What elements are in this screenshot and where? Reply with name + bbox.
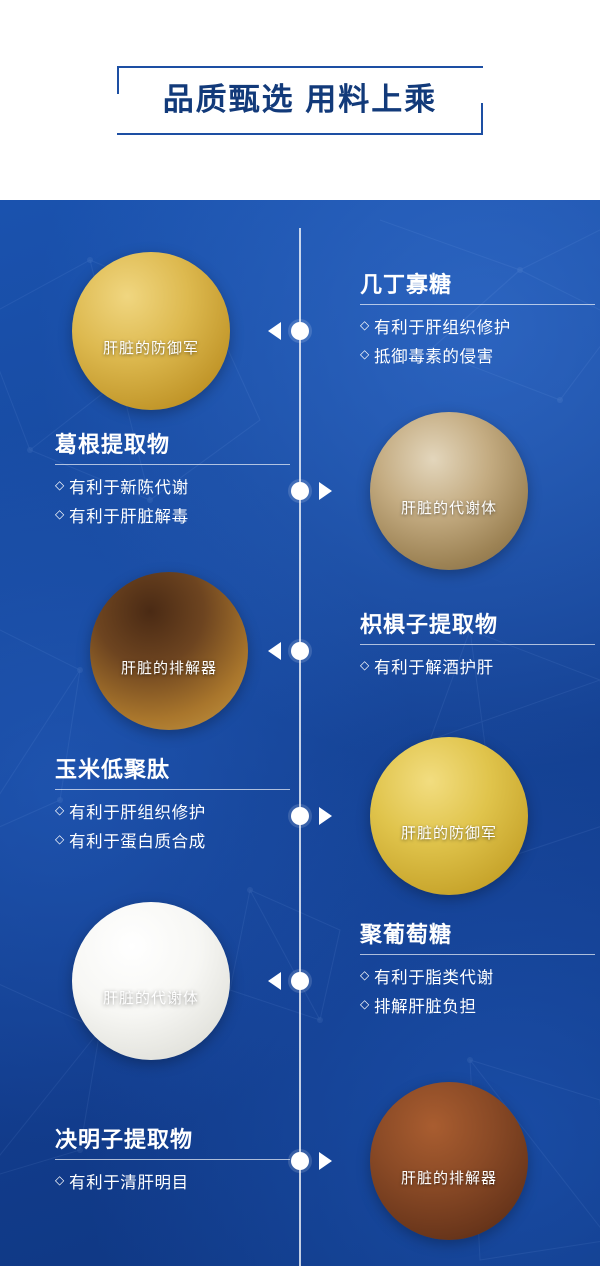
diamond-bullet-icon: ◇ [55, 828, 69, 851]
ingredient-image: 肝脏的代谢体 [72, 902, 230, 1060]
benefit-text: 排解肝脏负担 [374, 993, 477, 1022]
ingredient-image: 肝脏的防御军 [72, 252, 230, 410]
diamond-bullet-icon: ◇ [55, 1169, 69, 1192]
ingredient-text: 决明子提取物 ◇有利于清肝明目 [55, 1128, 290, 1198]
ingredient-image-caption: 肝脏的防御军 [72, 337, 230, 358]
title-divider [360, 304, 595, 305]
diamond-bullet-icon: ◇ [360, 343, 374, 366]
ingredient-image: 肝脏的排解器 [370, 1082, 528, 1240]
timeline-axis [299, 228, 301, 1266]
benefit-text: 有利于脂类代谢 [374, 964, 494, 993]
ingredient-benefit: ◇抵御毒素的侵害 [360, 343, 595, 372]
ingredient-text: 玉米低聚肽 ◇有利于肝组织修护 ◇有利于蛋白质合成 [55, 758, 290, 857]
timeline-arrow-left-icon [268, 642, 281, 660]
benefit-text: 有利于新陈代谢 [69, 474, 189, 503]
ingredient-text: 聚葡萄糖 ◇有利于脂类代谢 ◇排解肝脏负担 [360, 923, 595, 1022]
ingredient-benefit: ◇有利于解酒护肝 [360, 654, 595, 683]
timeline-node [291, 482, 309, 500]
timeline-node [291, 972, 309, 990]
ingredient-image: 肝脏的代谢体 [370, 412, 528, 570]
benefit-text: 有利于解酒护肝 [374, 654, 494, 683]
ingredient-text: 几丁寡糖 ◇有利于肝组织修护 ◇抵御毒素的侵害 [360, 273, 595, 372]
ingredient-benefit: ◇有利于清肝明目 [55, 1169, 290, 1198]
diamond-bullet-icon: ◇ [360, 993, 374, 1016]
timeline-arrow-right-icon [319, 482, 332, 500]
ingredient-image-caption: 肝脏的排解器 [370, 1167, 528, 1188]
timeline-node [291, 1152, 309, 1170]
ingredients-panel: 肝脏的防御军 几丁寡糖 ◇有利于肝组织修护 ◇抵御毒素的侵害 肝脏的代谢体 葛根… [0, 200, 600, 1266]
title-divider [55, 789, 290, 790]
page-header: 品质甄选 用料上乘 [0, 0, 600, 200]
title-divider [360, 644, 595, 645]
ingredient-title: 枳椇子提取物 [360, 613, 595, 644]
benefit-text: 有利于蛋白质合成 [69, 828, 206, 857]
ingredient-image-caption: 肝脏的防御军 [370, 822, 528, 843]
page-title: 品质甄选 用料上乘 [163, 84, 438, 115]
benefit-text: 有利于肝组织修护 [69, 799, 206, 828]
ingredient-image-caption: 肝脏的排解器 [90, 657, 248, 678]
ingredient-benefit: ◇有利于蛋白质合成 [55, 828, 290, 857]
ingredient-benefit: ◇有利于肝脏解毒 [55, 503, 290, 532]
timeline-node [291, 807, 309, 825]
diamond-bullet-icon: ◇ [55, 474, 69, 497]
ingredient-image: 肝脏的排解器 [90, 572, 248, 730]
ingredient-title: 玉米低聚肽 [55, 758, 290, 789]
benefit-text: 有利于肝脏解毒 [69, 503, 189, 532]
diamond-bullet-icon: ◇ [55, 799, 69, 822]
ingredient-title: 几丁寡糖 [360, 273, 595, 304]
benefit-text: 有利于清肝明目 [69, 1169, 189, 1198]
timeline-arrow-right-icon [319, 807, 332, 825]
ingredient-title: 决明子提取物 [55, 1128, 290, 1159]
timeline-node [291, 642, 309, 660]
timeline-arrow-left-icon [268, 322, 281, 340]
diamond-bullet-icon: ◇ [55, 503, 69, 526]
benefit-text: 抵御毒素的侵害 [374, 343, 494, 372]
ingredient-benefit: ◇有利于肝组织修护 [360, 314, 595, 343]
diamond-bullet-icon: ◇ [360, 654, 374, 677]
header-title-box: 品质甄选 用料上乘 [117, 66, 484, 135]
ingredient-benefit: ◇有利于新陈代谢 [55, 474, 290, 503]
diamond-bullet-icon: ◇ [360, 964, 374, 987]
ingredient-image-caption: 肝脏的代谢体 [72, 987, 230, 1008]
ingredient-benefit: ◇有利于脂类代谢 [360, 964, 595, 993]
timeline-arrow-left-icon [268, 972, 281, 990]
timeline-node [291, 322, 309, 340]
ingredient-title: 葛根提取物 [55, 433, 290, 464]
ingredient-benefit: ◇排解肝脏负担 [360, 993, 595, 1022]
title-divider [55, 1159, 290, 1160]
ingredient-text: 枳椇子提取物 ◇有利于解酒护肝 [360, 613, 595, 683]
ingredient-title: 聚葡萄糖 [360, 923, 595, 954]
ingredient-image-caption: 肝脏的代谢体 [370, 497, 528, 518]
ingredient-benefit: ◇有利于肝组织修护 [55, 799, 290, 828]
title-divider [55, 464, 290, 465]
title-divider [360, 954, 595, 955]
benefit-text: 有利于肝组织修护 [374, 314, 511, 343]
ingredient-image: 肝脏的防御军 [370, 737, 528, 895]
ingredient-text: 葛根提取物 ◇有利于新陈代谢 ◇有利于肝脏解毒 [55, 433, 290, 532]
diamond-bullet-icon: ◇ [360, 314, 374, 337]
timeline-arrow-right-icon [319, 1152, 332, 1170]
